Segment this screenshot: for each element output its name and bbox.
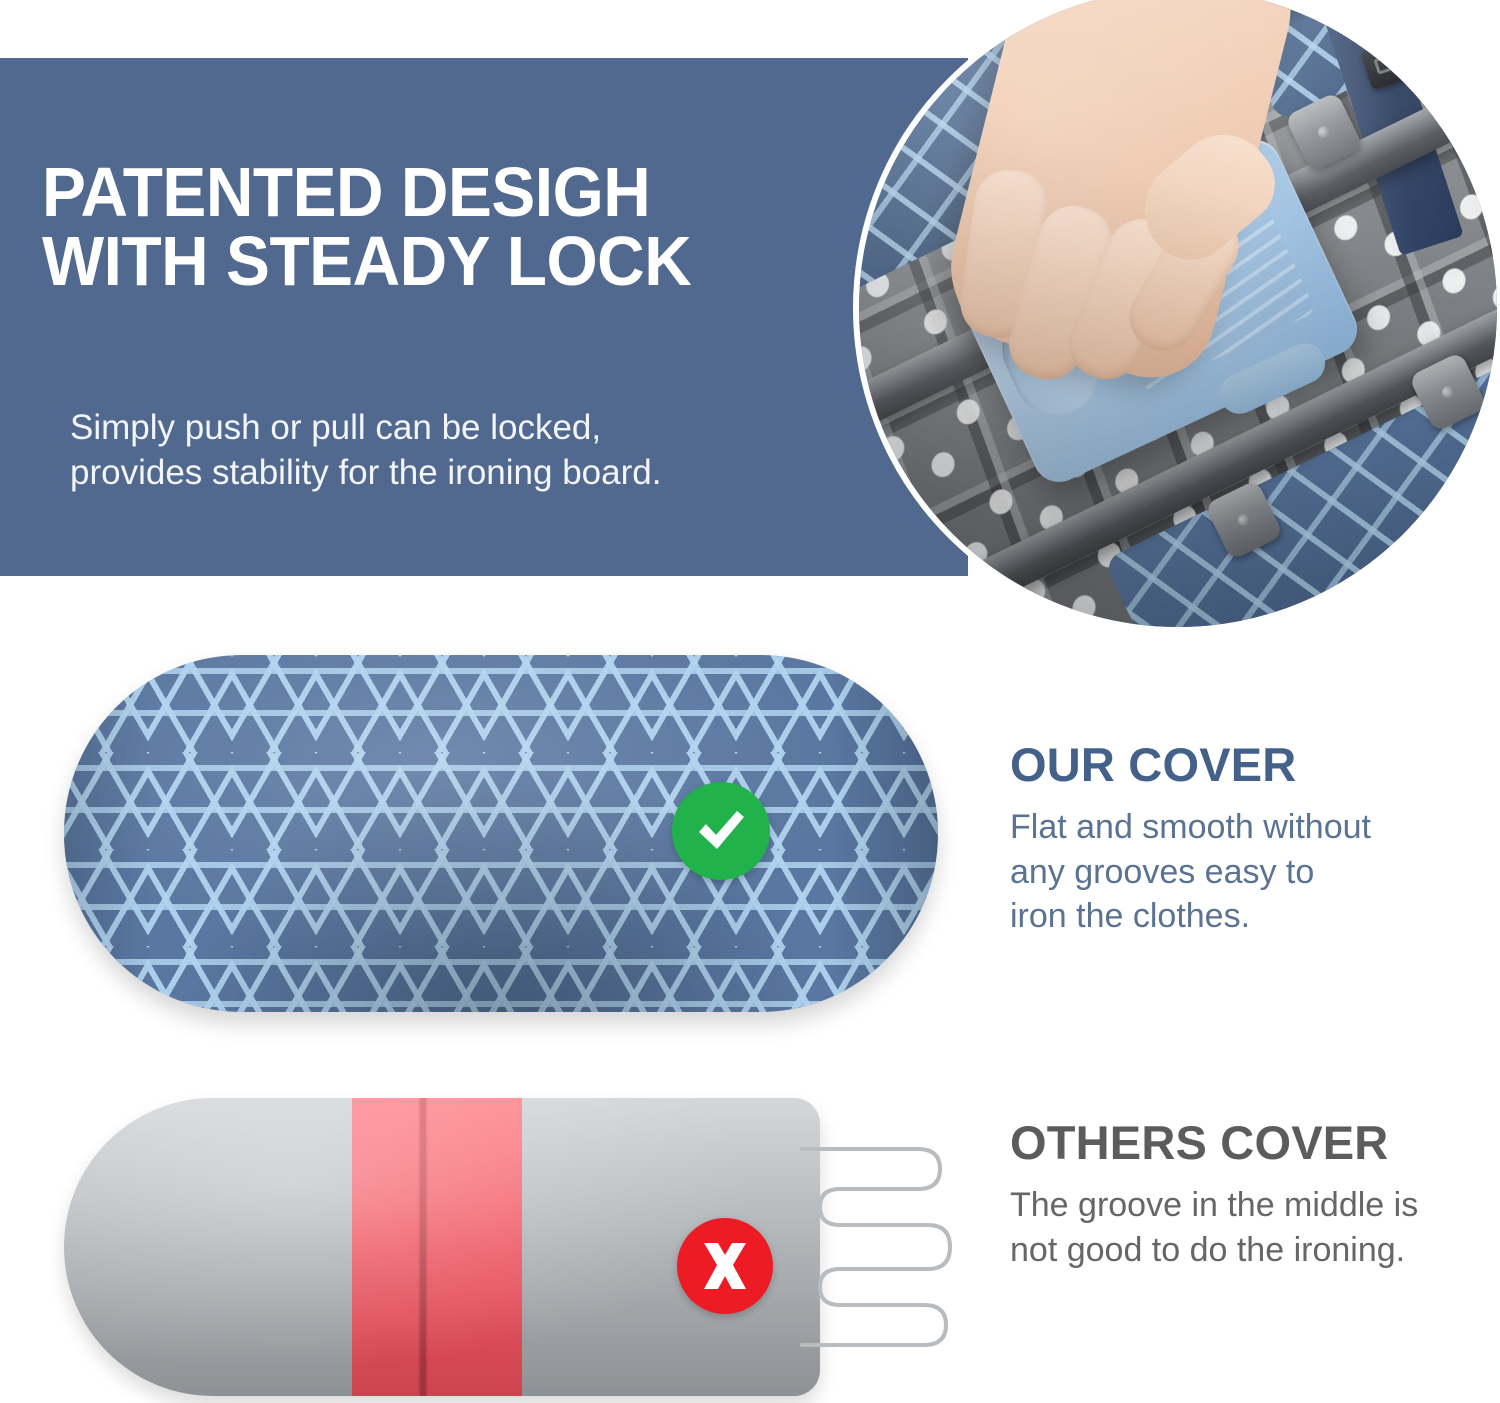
iron-rest-wire [800,1143,980,1355]
headline-banner: PATENTED DESIGH WITH STEADY LOCK Simply … [0,58,968,576]
others-cover-title: OTHERS COVER [1010,1118,1490,1167]
steady-lock-photo [853,0,1500,633]
photo-inner [859,0,1497,627]
infographic-page: PATENTED DESIGH WITH STEADY LOCK Simply … [0,0,1500,1403]
our-cover-copy: OUR COVER Flat and smooth without any gr… [1010,740,1480,938]
check-icon [689,799,753,863]
others-cover-description: The groove in the middle is not good to … [1010,1183,1490,1271]
our-cover-description: Flat and smooth without any grooves easy… [1010,805,1480,938]
photo-shading-overlay [859,0,1497,627]
our-cover-board [64,655,938,1012]
others-cover-copy: OTHERS COVER The groove in the middle is… [1010,1118,1490,1272]
our-cover-shading [64,655,938,1012]
x-icon [696,1237,754,1295]
x-badge [677,1218,773,1314]
check-badge [672,782,770,880]
our-cover-title: OUR COVER [1010,740,1480,789]
subheadline-text: Simply push or pull can be locked, provi… [70,406,850,496]
headline-text: PATENTED DESIGH WITH STEADY LOCK [42,158,832,297]
